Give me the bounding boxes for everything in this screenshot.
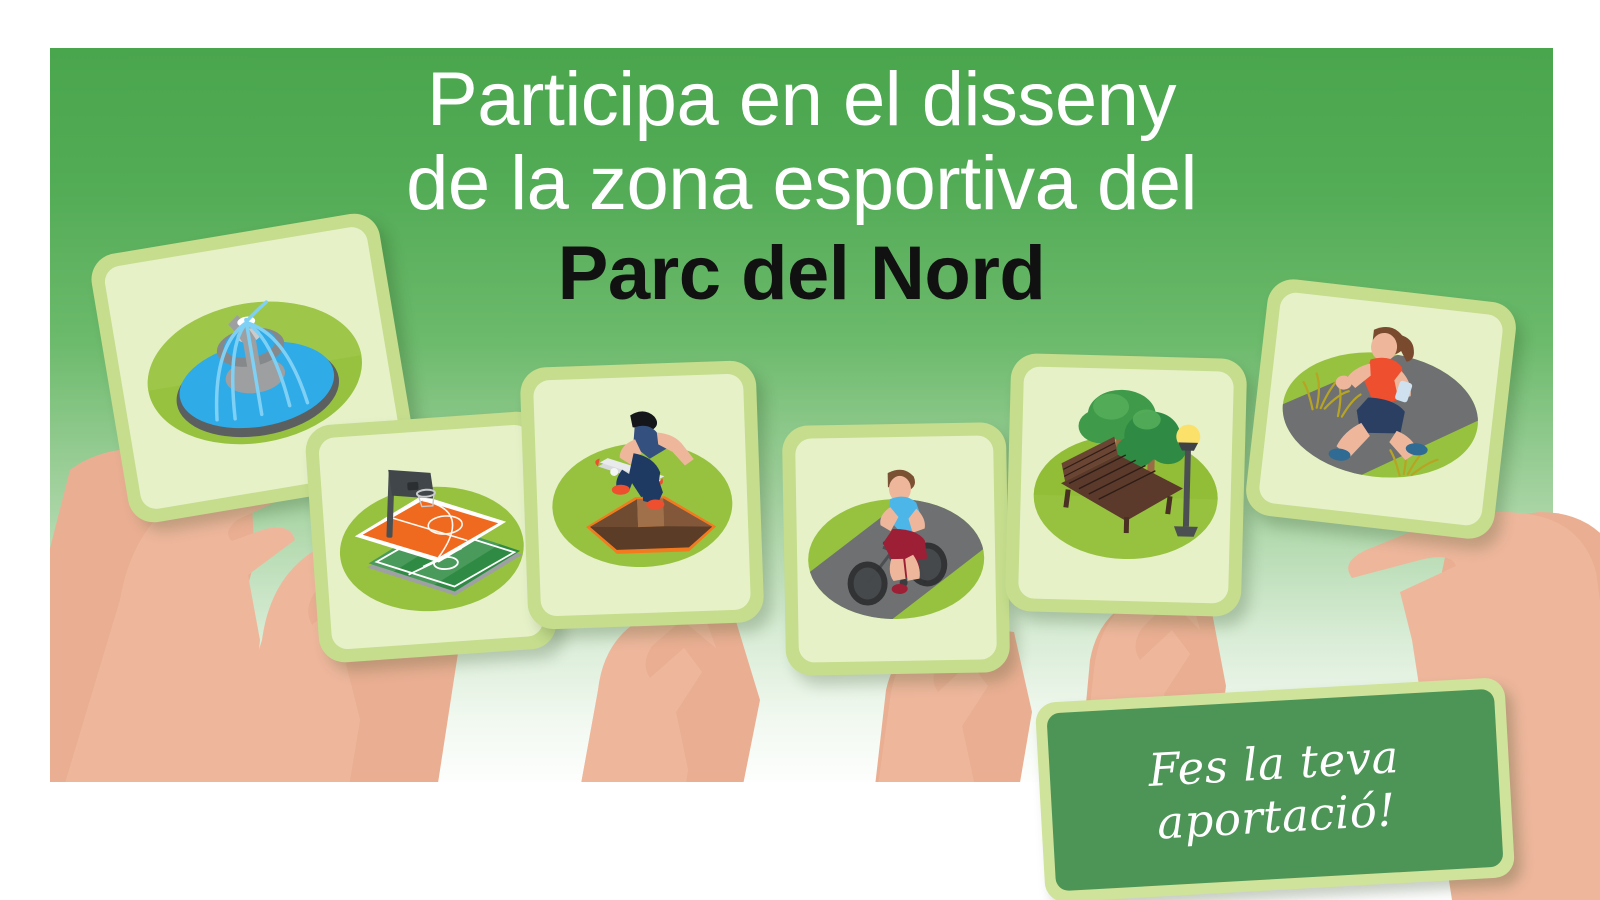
bench-and-trees-icon: [1018, 366, 1234, 603]
card-bike-art: [795, 435, 997, 662]
footer-logos: Ajuntament de Sabadell Hi col·labora:: [0, 790, 1600, 860]
bike-path-icon: [795, 435, 997, 662]
callout-box[interactable]: Fes la teva aportació!: [1035, 677, 1515, 900]
card-sportcourt[interactable]: [304, 410, 558, 664]
card-sportcourt-art: [318, 424, 544, 650]
card-skate[interactable]: [520, 360, 765, 630]
poster-canvas: Participa en el disseny de la zona espor…: [0, 0, 1600, 900]
card-runner[interactable]: [1243, 277, 1518, 542]
sports-court-icon: [318, 424, 544, 650]
running-path-icon: [1258, 291, 1505, 527]
skate-ramp-icon: [533, 373, 751, 616]
card-bench-art: [1018, 366, 1234, 603]
card-bench[interactable]: [1005, 353, 1248, 617]
card-runner-art: [1258, 291, 1505, 527]
card-bike[interactable]: [782, 422, 1010, 676]
card-skate-art: [533, 373, 751, 616]
